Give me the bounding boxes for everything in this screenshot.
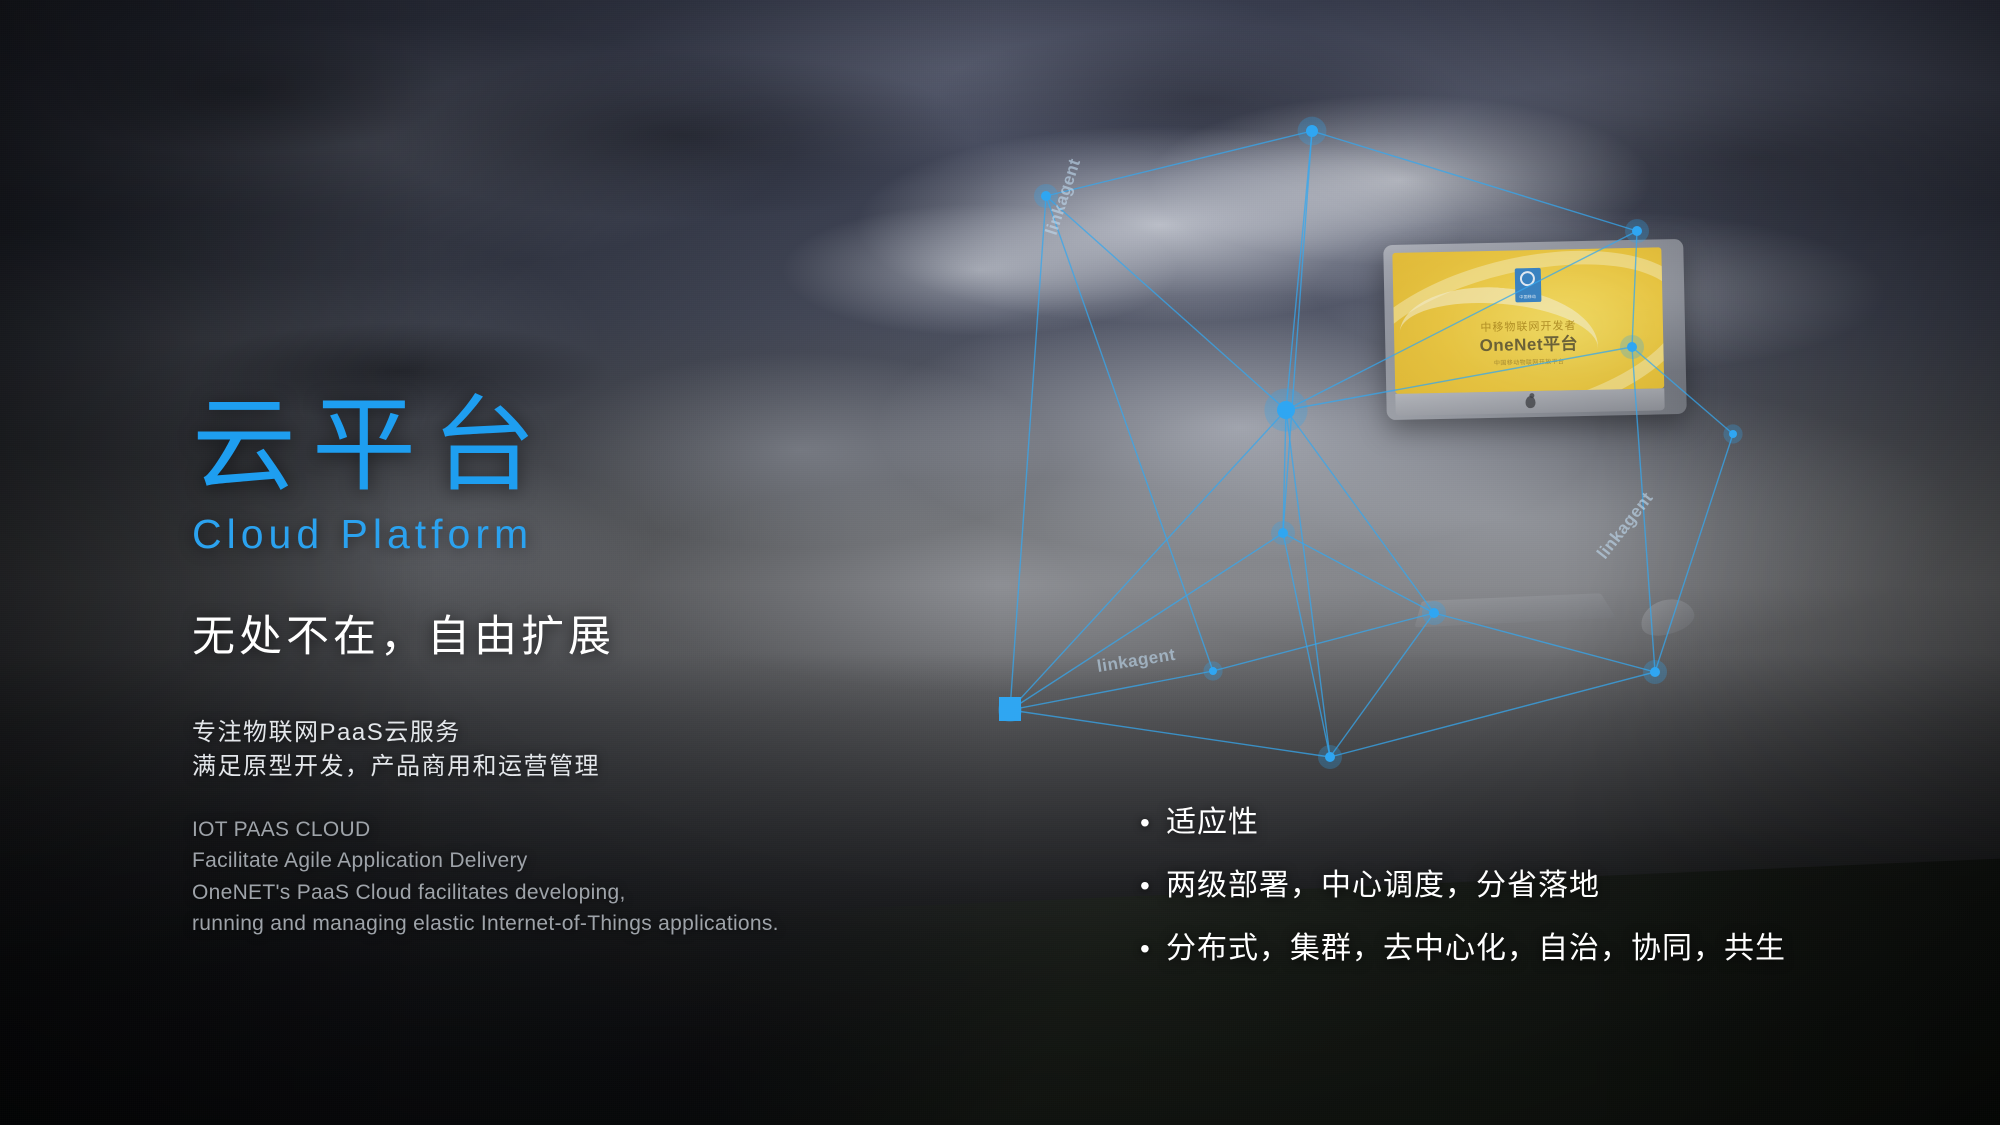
description-cn: 专注物联网PaaS云服务 满足原型开发，产品商用和运营管理 [192, 716, 972, 784]
network-edge [1330, 613, 1434, 757]
network-edge [1632, 231, 1637, 347]
network-edge [1286, 231, 1637, 410]
network-edge [1010, 710, 1330, 757]
description-cn-line-2: 满足原型开发，产品商用和运营管理 [192, 750, 972, 784]
bullet-marker-icon: • [1140, 935, 1166, 963]
network-edge [1213, 613, 1434, 671]
network-node [1429, 608, 1439, 618]
list-item-label: 两级部署，中心调度，分省落地 [1166, 868, 1600, 904]
slide-canvas: 中国移动 中移物联网开发者 OneNet平台 中国移动物联网开放平台 linka… [0, 0, 2000, 1125]
network-edge [1283, 533, 1434, 613]
list-item: • 分布式，集群，去中心化，自治，协同，共生 [1140, 931, 1960, 967]
description-en: IOT PAAS CLOUD Facilitate Agile Applicat… [192, 814, 972, 938]
list-item-label: 分布式，集群，去中心化，自治，协同，共生 [1166, 931, 1786, 967]
list-item: • 适应性 [1140, 805, 1960, 841]
network-node [1729, 430, 1737, 438]
description-en-line-4: running and managing elastic Internet-of… [192, 908, 972, 939]
description-en-line-3: OneNET's PaaS Cloud facilitates developi… [192, 877, 972, 908]
network-edge [1655, 434, 1733, 672]
network-node [1650, 667, 1660, 677]
network-node [1306, 125, 1318, 137]
network-node [1325, 752, 1335, 762]
network-node-square [999, 697, 1021, 721]
network-node [1632, 226, 1642, 236]
network-label: linkagent [1593, 488, 1657, 562]
network-edge [1434, 613, 1655, 672]
network-edge [1046, 131, 1312, 196]
network-node [1278, 528, 1288, 538]
bullet-marker-icon: • [1140, 809, 1166, 837]
page-title-cn: 云平台 [192, 392, 972, 501]
page-title-en: Cloud Platform [192, 511, 972, 558]
description-en-line-1: IOT PAAS CLOUD [192, 814, 972, 845]
hero-text-column: 云平台 Cloud Platform 无处不在，自由扩展 专注物联网PaaS云服… [192, 392, 972, 939]
network-edge [1010, 196, 1046, 710]
list-item: • 两级部署，中心调度，分省落地 [1140, 868, 1960, 904]
network-node [1627, 342, 1637, 352]
network-label: linkagent [1096, 645, 1177, 676]
network-edge [1312, 131, 1637, 231]
network-labels: linkagentlinkagentlinkagent [1042, 156, 1657, 676]
network-edge [1632, 347, 1733, 434]
network-edge [1330, 672, 1655, 757]
network-node [1277, 401, 1295, 419]
description-cn-line-1: 专注物联网PaaS云服务 [192, 716, 972, 750]
hero-tagline: 无处不在，自由扩展 [192, 602, 972, 664]
bullet-marker-icon: • [1140, 872, 1166, 900]
network-edge [1046, 196, 1213, 671]
network-node [1209, 667, 1217, 675]
network-edge [1286, 131, 1312, 410]
network-edge [1283, 131, 1312, 533]
feature-bullet-list: • 适应性 • 两级部署，中心调度，分省落地 • 分布式，集群，去中心化，自治，… [1140, 805, 1960, 967]
network-edge [1046, 196, 1286, 410]
network-node [1041, 191, 1051, 201]
list-item-label: 适应性 [1166, 805, 1259, 841]
description-en-line-2: Facilitate Agile Application Delivery [192, 845, 972, 876]
network-edge [1286, 347, 1632, 410]
